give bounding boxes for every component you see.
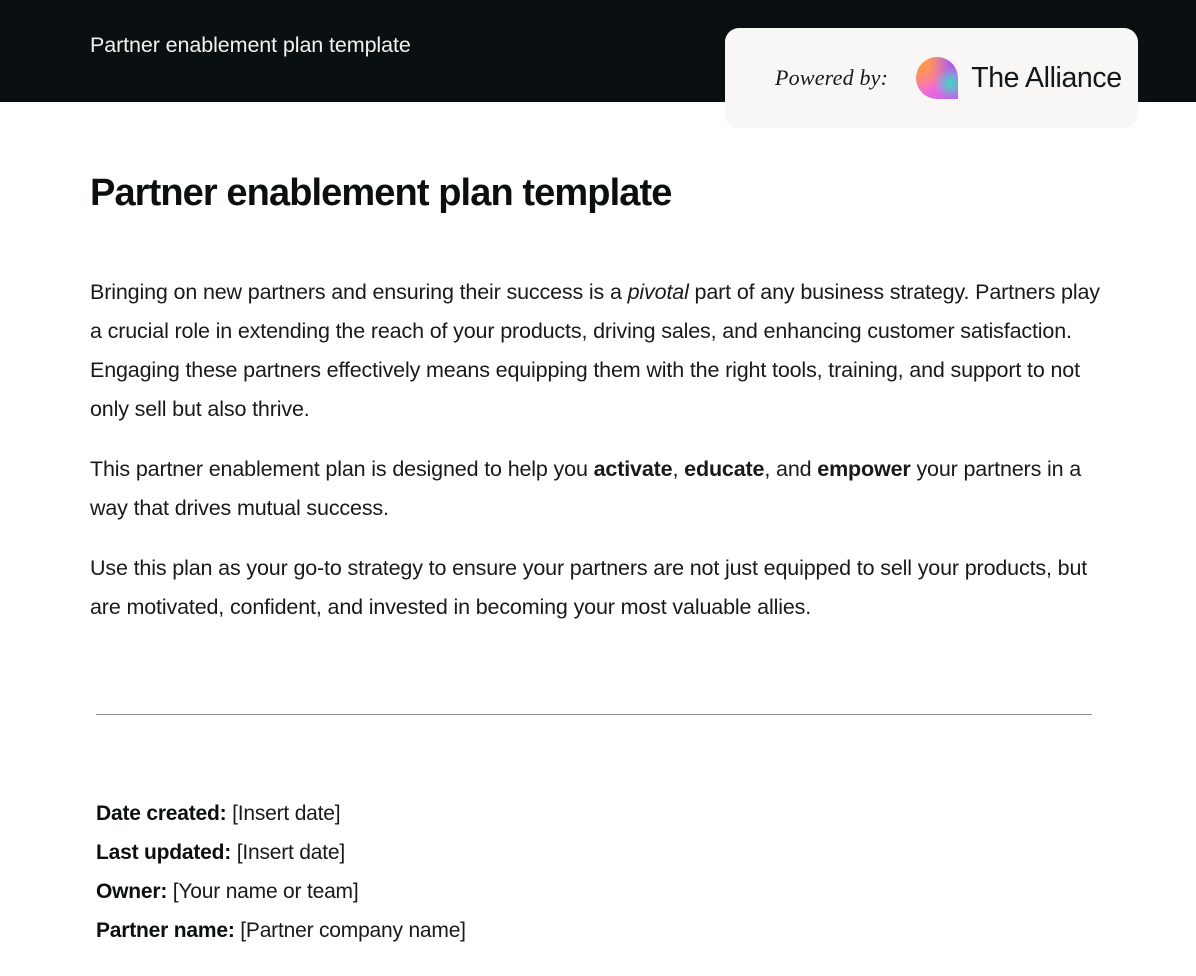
document-metadata: Date created: [Insert date]Last updated:… — [96, 794, 1096, 950]
text-run: Use this plan as your go-to strategy to … — [90, 556, 1087, 619]
emphasis-bold: educate — [684, 457, 764, 481]
metadata-value[interactable]: [Insert date] — [226, 802, 340, 825]
intro-paragraphs: Bringing on new partners and ensuring th… — [90, 273, 1100, 627]
emphasis-bold: empower — [817, 457, 910, 481]
alliance-brand-name: The Alliance — [971, 62, 1121, 95]
emphasis-italic: pivotal — [628, 280, 689, 304]
document-page: Partner enablement plan template Powered… — [0, 0, 1196, 976]
paragraph-usage: Use this plan as your go-to strategy to … — [90, 549, 1100, 627]
powered-by-badge: Powered by: The Alliance — [725, 28, 1138, 128]
metadata-label: Owner: — [96, 880, 167, 903]
text-run: , — [673, 457, 685, 481]
metadata-value[interactable]: [Insert date] — [231, 841, 345, 864]
metadata-row: Date created: [Insert date] — [96, 794, 1096, 833]
text-run: Bringing on new partners and ensuring th… — [90, 280, 628, 304]
metadata-label: Last updated: — [96, 841, 231, 864]
emphasis-bold: activate — [594, 457, 673, 481]
metadata-value[interactable]: [Partner company name] — [235, 919, 466, 942]
metadata-label: Date created: — [96, 802, 226, 825]
paragraph-intro: Bringing on new partners and ensuring th… — [90, 273, 1100, 429]
powered-by-label: Powered by: — [775, 65, 888, 91]
header-title: Partner enablement plan template — [90, 33, 411, 59]
section-divider — [96, 714, 1092, 715]
alliance-gradient-droplet-icon — [916, 57, 958, 99]
page-title: Partner enablement plan template — [90, 170, 1196, 218]
metadata-row: Last updated: [Insert date] — [96, 833, 1096, 872]
metadata-row: Partner name: [Partner company name] — [96, 911, 1096, 950]
document-body: Partner enablement plan template Bringin… — [0, 102, 1196, 627]
text-run: , and — [764, 457, 817, 481]
metadata-label: Partner name: — [96, 919, 235, 942]
text-run: This partner enablement plan is designed… — [90, 457, 594, 481]
paragraph-purpose: This partner enablement plan is designed… — [90, 450, 1100, 528]
metadata-value[interactable]: [Your name or team] — [167, 880, 358, 903]
metadata-row: Owner: [Your name or team] — [96, 872, 1096, 911]
